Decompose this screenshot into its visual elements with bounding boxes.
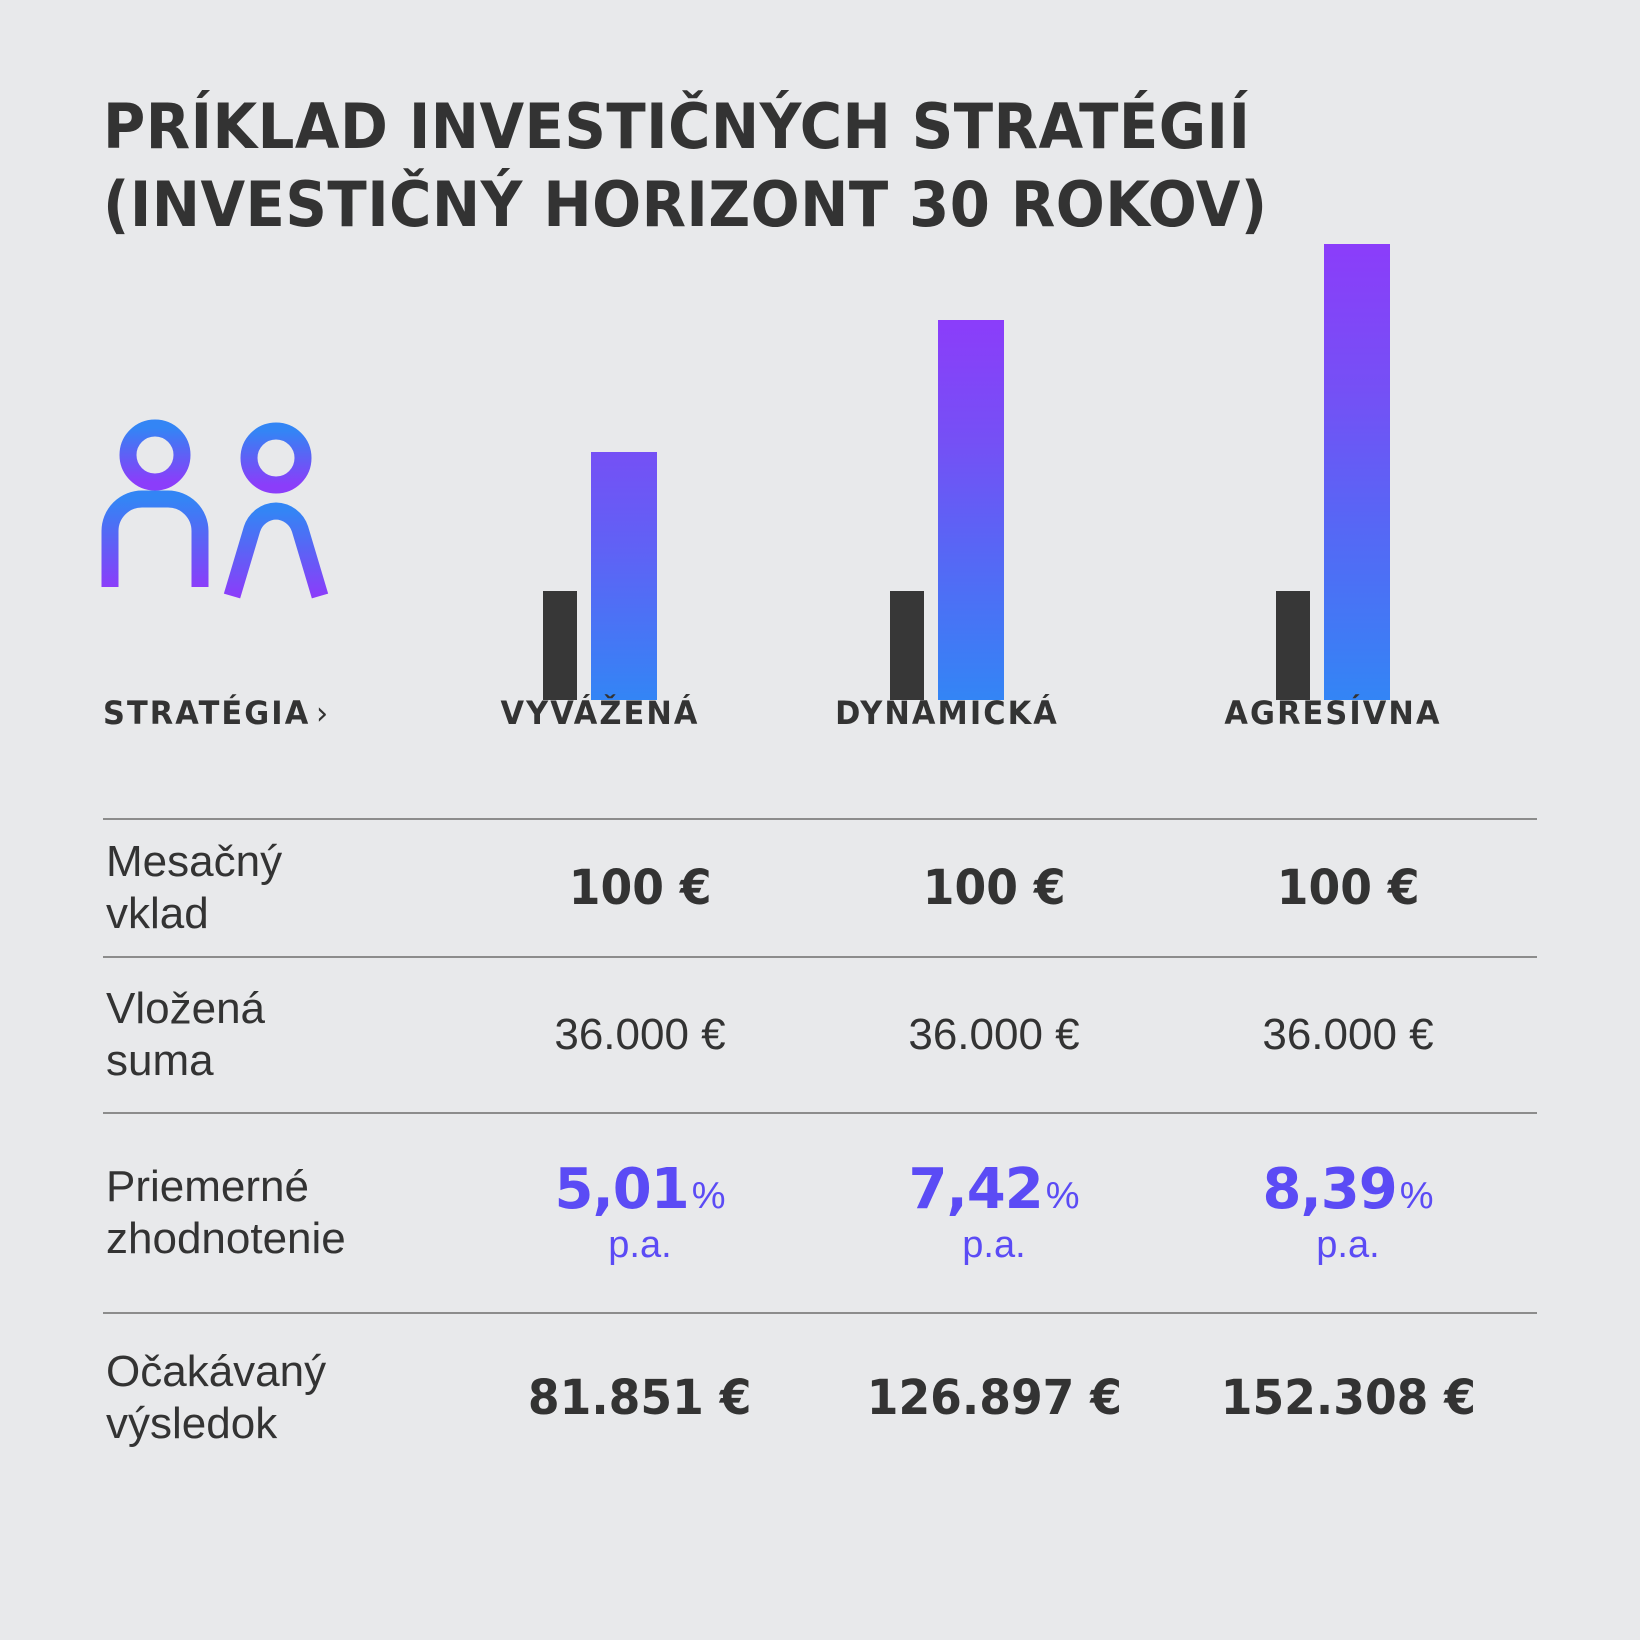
bar-group-vyvazena: [543, 0, 657, 700]
cell-mesacny-vklad-dynamicka: 100 €: [817, 860, 1171, 916]
cell-value: 100 €: [1277, 860, 1420, 916]
bar-result-agresivna: [1324, 244, 1390, 700]
row-label-ocakavany-vysledok: Očakávaný výsledok: [103, 1346, 463, 1450]
cell-value: 7,42: [909, 1157, 1043, 1222]
cell-vlozena-suma-vyvazena: 36.000 €: [463, 1010, 817, 1060]
cell-value: 81.851 €: [528, 1370, 752, 1426]
percent-sign: %: [1046, 1175, 1080, 1217]
row-label-priemerne-zhodnotenie: Priemerné zhodnotenie: [103, 1161, 463, 1265]
row-label-vlozena-suma: Vložená suma: [103, 983, 463, 1087]
cell-vlozena-suma-agresivna: 36.000 €: [1171, 1010, 1525, 1060]
bar-deposit-vyvazena: [543, 591, 577, 700]
row-label-line-1: Mesačný: [106, 836, 463, 888]
row-label-line-2: vklad: [106, 888, 463, 940]
table-row: Vložená suma 36.000 € 36.000 € 36.000 €: [103, 956, 1537, 1112]
cell-value: 8,39: [1263, 1157, 1397, 1222]
cell-vysledok-agresivna: 152.308 €: [1171, 1370, 1525, 1426]
row-label-line-1: Očakávaný: [106, 1346, 463, 1398]
percent-sign: %: [1400, 1175, 1434, 1217]
bar-group-dynamicka: [890, 0, 1004, 700]
axis-label-strategia-text: STRATÉGIA: [103, 694, 310, 732]
cell-value: 36.000 €: [908, 1010, 1079, 1059]
two-people-icon: [100, 400, 340, 670]
row-label-line-2: suma: [106, 1035, 463, 1087]
cell-vysledok-dynamicka: 126.897 €: [817, 1370, 1171, 1426]
cell-value: 100 €: [923, 860, 1066, 916]
chart-axis-labels: STRATÉGIA› VYVÁŽENÁ DYNAMICKÁ AGRESÍVNA: [0, 694, 1640, 750]
bar-deposit-agresivna: [1276, 591, 1310, 700]
bar-result-dynamicka: [938, 320, 1004, 700]
cell-value: 100 €: [569, 860, 712, 916]
cell-value: 5,01: [555, 1157, 689, 1222]
cell-value: 36.000 €: [1262, 1010, 1433, 1059]
per-annum-suffix: p.a.: [463, 1226, 817, 1264]
cell-vlozena-suma-dynamicka: 36.000 €: [817, 1010, 1171, 1060]
column-header-vyvazena: VYVÁŽENÁ: [448, 694, 752, 732]
chevron-right-icon: ›: [316, 694, 330, 732]
table-row: Mesačný vklad 100 € 100 € 100 €: [103, 818, 1537, 956]
row-label-line-2: výsledok: [106, 1398, 463, 1450]
row-label-line-2: zhodnotenie: [106, 1213, 463, 1265]
row-label-line-1: Priemerné: [106, 1161, 463, 1213]
cell-value: 126.897 €: [866, 1370, 1121, 1426]
percent-sign: %: [692, 1175, 726, 1217]
column-header-dynamicka: DYNAMICKÁ: [795, 694, 1099, 732]
cell-mesacny-vklad-vyvazena: 100 €: [463, 860, 817, 916]
table-row: Očakávaný výsledok 81.851 € 126.897 € 15…: [103, 1312, 1537, 1482]
comparison-table: Mesačný vklad 100 € 100 € 100 € Vložená …: [103, 818, 1537, 1482]
cell-vysledok-vyvazena: 81.851 €: [463, 1370, 817, 1426]
per-annum-suffix: p.a.: [1171, 1226, 1525, 1264]
row-label-mesacny-vklad: Mesačný vklad: [103, 836, 463, 940]
row-label-line-1: Vložená: [106, 983, 463, 1035]
bar-chart: [0, 0, 1640, 700]
column-header-agresivna: AGRESÍVNA: [1181, 694, 1485, 732]
cell-zhodnotenie-dynamicka: 7,42% p.a.: [817, 1162, 1171, 1264]
bar-deposit-dynamicka: [890, 591, 924, 700]
cell-zhodnotenie-vyvazena: 5,01% p.a.: [463, 1162, 817, 1264]
per-annum-suffix: p.a.: [817, 1226, 1171, 1264]
table-row: Priemerné zhodnotenie 5,01% p.a. 7,42% p…: [103, 1112, 1537, 1312]
cell-value: 152.308 €: [1220, 1370, 1475, 1426]
cell-zhodnotenie-agresivna: 8,39% p.a.: [1171, 1162, 1525, 1264]
bar-group-agresivna: [1276, 0, 1390, 700]
cell-value: 36.000 €: [554, 1010, 725, 1059]
cell-mesacny-vklad-agresivna: 100 €: [1171, 860, 1525, 916]
axis-label-strategia: STRATÉGIA›: [103, 694, 330, 732]
bar-result-vyvazena: [591, 452, 657, 700]
